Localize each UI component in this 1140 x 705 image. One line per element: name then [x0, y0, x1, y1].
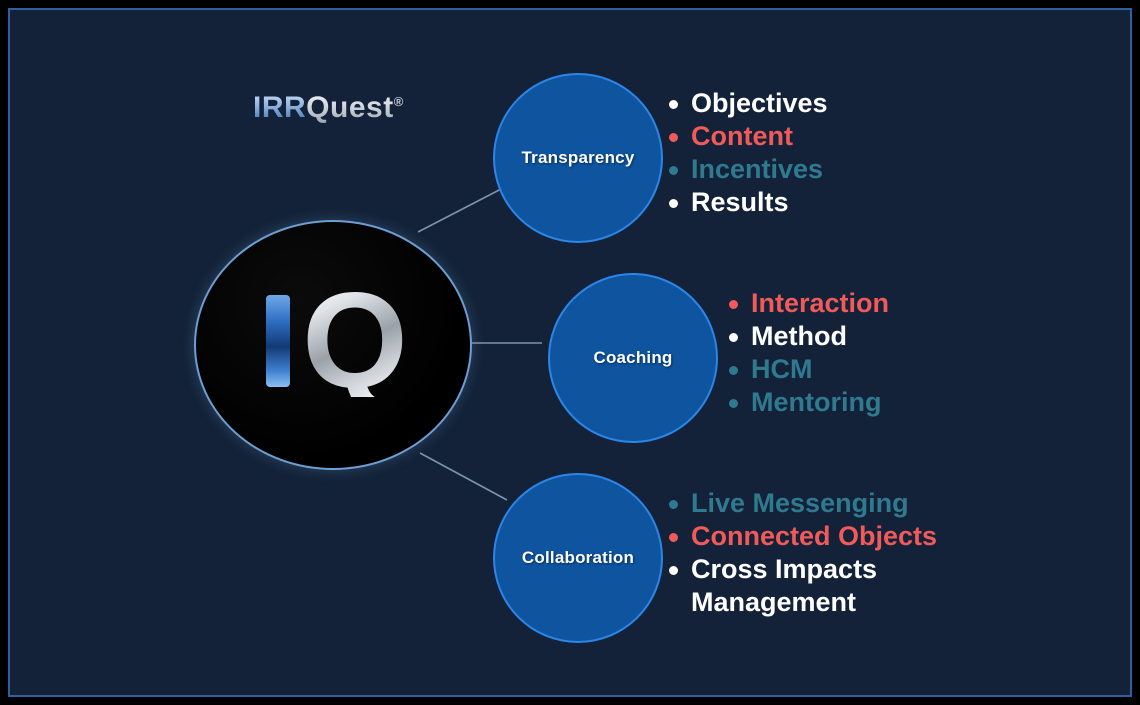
list-item: Incentives [669, 153, 828, 186]
list-item: Results [669, 186, 828, 219]
bullet-dot-icon [729, 300, 738, 309]
bullet-dot-icon [669, 100, 678, 109]
list-item: Connected Objects [669, 520, 937, 553]
brand-quest-text: Quest [306, 91, 394, 124]
list-coaching: InteractionMethodHCMMentoring [729, 287, 889, 419]
list-item: Content [669, 120, 828, 153]
list-transparency: ObjectivesContentIncentivesResults [669, 87, 828, 219]
brand-irr-text: IRR [253, 91, 306, 124]
list-item-label: Cross Impacts Management [691, 553, 877, 619]
node-transparency-label: Transparency [522, 148, 635, 168]
node-coaching-label: Coaching [593, 348, 672, 368]
list-item-label: Live Messenging [691, 487, 909, 520]
list-item-label: Connected Objects [691, 520, 937, 553]
list-item: Interaction [729, 287, 889, 320]
central-logo-circle: Q [194, 220, 472, 470]
list-item: Mentoring [729, 386, 889, 419]
list-item-label: Method [751, 320, 847, 353]
node-coaching[interactable]: Coaching [548, 273, 718, 443]
list-item-label: HCM [751, 353, 813, 386]
list-item: Method [729, 320, 889, 353]
bullet-dot-icon [729, 366, 738, 375]
bullet-dot-icon [669, 166, 678, 175]
slide-canvas: IRRQuest® Q Transparency Coaching Collab… [8, 8, 1132, 697]
list-item-label: Mentoring [751, 386, 881, 419]
list-item: Cross Impacts Management [669, 553, 937, 619]
node-collaboration[interactable]: Collaboration [493, 473, 663, 643]
bullet-dot-icon [669, 566, 678, 575]
logo-letter-i [266, 295, 290, 387]
list-item-label: Objectives [691, 87, 828, 120]
bullet-dot-icon [729, 399, 738, 408]
connector-hub-to-transparency [418, 188, 503, 232]
bullet-dot-icon [669, 133, 678, 142]
bullet-dot-icon [669, 199, 678, 208]
iq-logo-mark: Q [266, 285, 408, 397]
node-transparency[interactable]: Transparency [493, 73, 663, 243]
bullet-dot-icon [669, 500, 678, 509]
brand-wordmark: IRRQuest® [253, 91, 404, 125]
list-item-label: Interaction [751, 287, 889, 320]
list-collaboration: Live MessengingConnected ObjectsCross Im… [669, 487, 937, 619]
connector-hub-to-collaboration [420, 453, 507, 500]
list-item-label: Content [691, 120, 793, 153]
list-item: Objectives [669, 87, 828, 120]
bullet-dot-icon [729, 333, 738, 342]
list-item: HCM [729, 353, 889, 386]
registered-trademark-icon: ® [394, 94, 404, 109]
bullet-dot-icon [669, 533, 678, 542]
list-item-label: Incentives [691, 153, 823, 186]
list-item-label: Results [691, 186, 789, 219]
list-item: Live Messenging [669, 487, 937, 520]
logo-letter-q: Q [302, 285, 408, 397]
node-collaboration-label: Collaboration [522, 548, 634, 568]
